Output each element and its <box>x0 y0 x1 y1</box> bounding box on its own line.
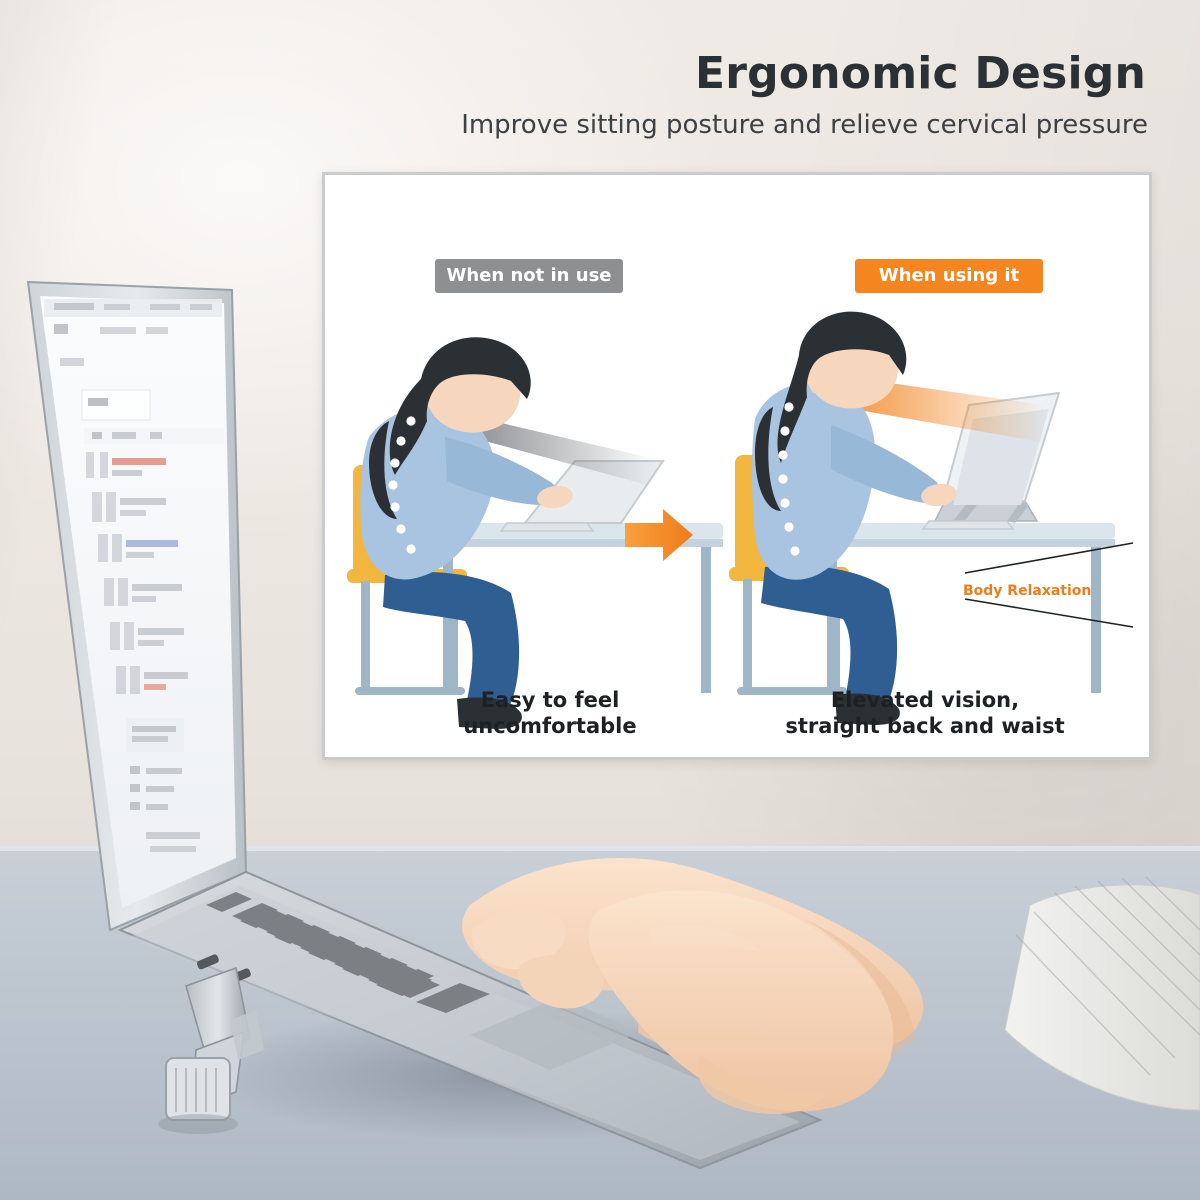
caption-right-line2: straight back and waist <box>785 714 1064 738</box>
info-panel: When not in use When using it <box>322 172 1152 760</box>
body-relaxation-annotation: Body Relaxation <box>963 583 1091 599</box>
caption-left-line2: uncomfortable <box>463 714 636 738</box>
product-lifestyle-image: Ergonomic Design Improve sitting posture… <box>0 0 1200 1200</box>
posture-comparison-illustration <box>325 175 1149 757</box>
scene-good-posture <box>729 312 1115 725</box>
caption-left: Easy to feel uncomfortable <box>385 687 715 739</box>
transition-arrow <box>625 509 693 561</box>
laptop-lid <box>28 282 246 930</box>
caption-left-line1: Easy to feel <box>481 688 620 712</box>
laptop-stand <box>158 968 264 1134</box>
caption-right-line1: Elevated vision, <box>831 688 1019 712</box>
caption-right: Elevated vision, straight back and waist <box>735 687 1115 739</box>
